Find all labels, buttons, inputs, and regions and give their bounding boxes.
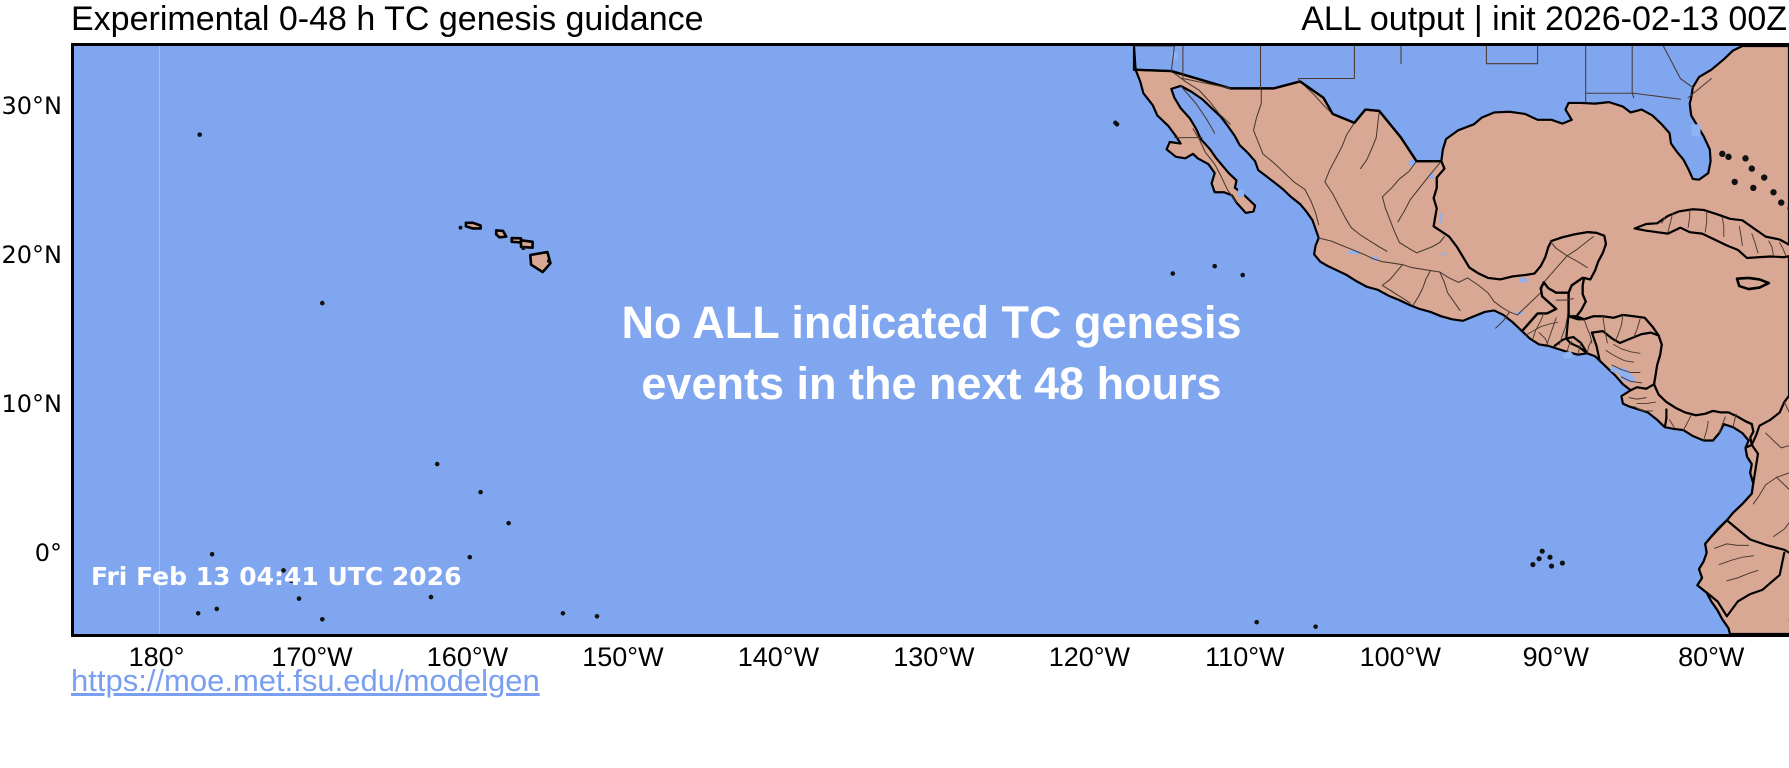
lon-tick-130W: 130°W [893,642,974,673]
lon-tick-100W: 100°W [1360,642,1441,673]
lat-tick-10: 10°N [2,390,63,418]
basemap-svg [74,46,1789,634]
lat-tick-20: 20°N [2,241,63,269]
source-url-link[interactable]: https://moe.met.fsu.edu/modelgen [71,663,540,699]
model-init-label: ALL output | init 2026-02-13 00Z [1301,0,1787,40]
lon-tick-140W: 140°W [738,642,819,673]
lon-tick-120W: 120°W [1049,642,1130,673]
tc-genesis-guidance-figure: Experimental 0-48 h TC genesis guidance … [0,0,1789,768]
lat-tick-0: 0° [35,539,62,567]
meridian-gridline-180 [159,46,160,634]
lon-tick-110W: 110°W [1205,642,1284,673]
lon-tick-90W: 90°W [1523,642,1589,673]
figure-title-row: Experimental 0-48 h TC genesis guidance … [0,0,1789,42]
generation-timestamp: Fri Feb 13 04:41 UTC 2026 [91,562,461,591]
map-plot-area[interactable]: No ALL indicated TC genesis events in th… [71,43,1789,637]
page-title: Experimental 0-48 h TC genesis guidance [71,0,704,40]
lon-tick-150W: 150°W [582,642,663,673]
lon-tick-80W: 80°W [1678,642,1744,673]
lat-tick-30: 30°N [2,92,63,120]
land-polygons [196,46,1789,634]
